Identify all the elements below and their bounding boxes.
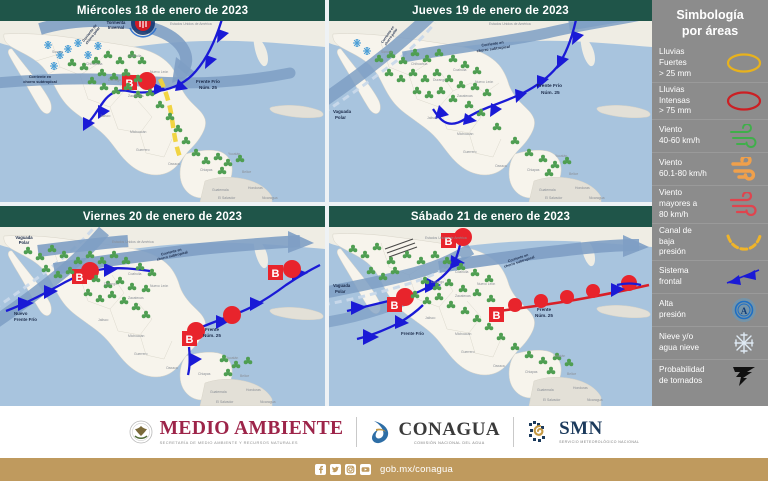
svg-text:Núm. 25: Núm. 25 [535,313,553,318]
svg-text:Jalisco: Jalisco [100,114,110,118]
svg-text:Coahuila: Coahuila [128,272,141,276]
svg-text:Guerrero: Guerrero [461,350,475,354]
svg-text:B: B [391,300,399,312]
svg-text:Yucatán: Yucatán [228,152,240,156]
medio-ambiente-title: MEDIO AMBIENTE [160,419,344,439]
legend-item-tornado-probability[interactable]: Probabilidadde tornados [652,359,768,392]
high-pressure-a-circle-icon: A [724,296,764,324]
svg-text:Zacatecas: Zacatecas [128,94,144,98]
svg-text:Estados Unidos de América: Estados Unidos de América [489,22,531,26]
logo-conagua[interactable]: CONAGUA COMISIÓN NACIONAL DEL AGUA [370,406,500,458]
conagua-water-icon [370,419,392,445]
svg-text:Chiapas: Chiapas [525,370,538,374]
svg-text:El Salvador: El Salvador [545,196,563,200]
svg-text:Michoacán: Michoacán [457,132,474,136]
svg-text:Honduras: Honduras [248,186,263,190]
svg-text:B: B [493,310,501,322]
facebook-icon[interactable] [315,464,326,475]
svg-text:Belice: Belice [567,372,576,376]
svg-text:Polar: Polar [19,240,30,245]
svg-text:Estados Unidos de América: Estados Unidos de América [425,236,467,240]
svg-text:El Salvador: El Salvador [543,398,561,402]
svg-text:Chihuahua: Chihuahua [411,62,428,66]
svg-text:El Salvador: El Salvador [218,196,236,200]
svg-text:Zacatecas: Zacatecas [455,294,471,298]
svg-text:Guerrero: Guerrero [134,352,148,356]
subtropical-jet-label-wed: Corriente en [29,75,52,79]
svg-text:Jalisco: Jalisco [427,116,437,120]
svg-text:Nicaragua: Nicaragua [589,196,605,200]
logo-medio-ambiente[interactable]: MEDIO AMBIENTE SECRETARÍA DE MEDIO AMBIE… [129,406,344,458]
wind-swirl-green-icon [724,122,764,150]
svg-text:Yucatán: Yucatán [226,356,238,360]
panel-thu[interactable]: Jueves 19 de enero de 2023 [329,0,652,202]
front-25-label-sat: Frente [537,307,551,312]
logo-smn[interactable]: SMN SERVICIO METEOROLÓGICO NACIONAL [527,406,639,458]
panel-fri[interactable]: Viernes 20 de enero de 2023 [0,206,325,406]
legend-title-line1: Simbología [656,8,764,24]
svg-text:Michoacán: Michoacán [128,334,145,338]
svg-text:Zacatecas: Zacatecas [128,296,144,300]
winter-storm-icon-wed [130,21,156,37]
front-triangles-blue-icon [724,263,764,291]
wind-gust-orange-icon [724,155,764,183]
svg-text:Honduras: Honduras [575,186,590,190]
svg-text:Invernal: Invernal [108,25,124,30]
smn-title: SMN [559,419,639,438]
svg-text:Michoacán: Michoacán [130,130,147,134]
medio-ambiente-subtitle: SECRETARÍA DE MEDIO AMBIENTE Y RECURSOS … [160,441,344,445]
legend-item-wind-40-60[interactable]: Viento40-60 km/h [652,119,768,152]
svg-text:Yucatán: Yucatán [553,354,565,358]
panel-sat-title: Sábado 21 de enero de 2023 [329,206,652,227]
legend-title: Simbología por áreas [652,0,768,41]
legend-label-low-pressure-trough: Canal debajapresión [659,226,724,258]
snowflake-icon [724,329,764,357]
svg-text:Guatemala: Guatemala [210,390,227,394]
front-25-label-fri: Frente [205,327,219,332]
svg-text:Durango: Durango [108,78,121,82]
panel-sat[interactable]: Sábado 21 de enero de 2023 [329,206,652,406]
svg-text:Belice: Belice [242,170,251,174]
footer-social-bar: gob.mx/conagua [0,458,768,481]
svg-text:Oaxaca: Oaxaca [168,162,180,166]
svg-text:Chiapas: Chiapas [527,168,540,172]
legend-label-wind-40-60: Viento40-60 km/h [659,125,724,147]
svg-text:Oaxaca: Oaxaca [495,164,507,168]
svg-text:Zacatecas: Zacatecas [457,94,473,98]
legend-item-snow-sleet[interactable]: Nieve y/oagua nieve [652,326,768,359]
legend-label-wind-gt-80: Vientomayores a80 km/h [659,188,724,220]
svg-text:Durango: Durango [431,280,444,284]
footer-url[interactable]: gob.mx/conagua [380,464,453,475]
ellipse-outline-red-icon [724,87,764,115]
twitter-icon[interactable] [330,464,341,475]
panel-sat-map[interactable]: B B B [329,227,652,406]
svg-text:Polar: Polar [335,115,346,120]
instagram-icon[interactable] [345,464,356,475]
svg-text:Honduras: Honduras [573,386,588,390]
weather-forecast-infographic: Miércoles 18 de enero de 2023 [0,0,768,481]
legend-item-heavy-rain[interactable]: LluviasFuertes> 25 mm [652,45,768,81]
svg-text:B: B [186,334,194,346]
smn-subtitle: SERVICIO METEOROLÓGICO NACIONAL [559,440,639,445]
svg-text:Núm. 25: Núm. 25 [541,90,560,96]
dashed-arc-yellow-icon [724,228,764,256]
legend-label-snow-sleet: Nieve y/oagua nieve [659,332,724,354]
svg-text:Sonora: Sonora [52,50,63,54]
legend-item-high-pressure[interactable]: Altapresión A [652,293,768,326]
smn-spiral-icon [527,419,553,445]
map-svg-thu: Vaguada Polar Corriente en chorro polar … [329,21,652,202]
panel-fri-map[interactable]: B B B [0,227,325,406]
conagua-title: CONAGUA [398,420,500,439]
svg-text:B: B [272,268,280,280]
cold-front-label-sat: Frente Frío [401,331,424,336]
svg-text:Nicaragua: Nicaragua [260,400,276,404]
panel-thu-title: Jueves 19 de enero de 2023 [329,0,652,21]
legend-label-high-pressure: Altapresión [659,299,724,321]
svg-text:Jalisco: Jalisco [98,318,108,322]
panel-wed-map[interactable]: B [0,21,325,202]
svg-text:Coahuila: Coahuila [128,54,141,58]
svg-text:Durango: Durango [104,282,117,286]
svg-text:Jalisco: Jalisco [425,316,435,320]
tornado-black-icon [724,362,764,390]
legend-label-wind-60-80: Viento60.1-80 km/h [659,158,724,180]
svg-text:Belice: Belice [569,172,578,176]
footer-logos: MEDIO AMBIENTE SECRETARÍA DE MEDIO AMBIE… [0,406,768,458]
svg-text:Nicaragua: Nicaragua [587,398,603,402]
svg-text:Belice: Belice [240,374,249,378]
svg-text:Nuevo León: Nuevo León [477,282,495,286]
svg-text:A: A [741,306,748,316]
svg-text:Guatemala: Guatemala [212,188,229,192]
legend-list: LluviasFuertes> 25 mm LluviasIntensas> 7… [652,41,768,392]
svg-text:Honduras: Honduras [246,388,261,392]
legend-label-heavy-rain: LluviasFuertes> 25 mm [659,47,724,79]
svg-text:chorro subtropical: chorro subtropical [23,80,57,84]
legend-item-wind-gt-80[interactable]: Vientomayores a80 km/h [652,185,768,222]
legend-item-intense-rain[interactable]: LluviasIntensas> 75 mm [652,82,768,119]
youtube-icon[interactable] [360,464,371,475]
legend-item-frontal-system[interactable]: Sistemafrontal [652,260,768,293]
svg-text:Estados Unidos de América: Estados Unidos de América [170,22,212,26]
svg-text:Polar: Polar [335,289,346,294]
polar-trough-label-sat: Vaguada [333,283,351,288]
svg-text:Coahuila: Coahuila [455,270,468,274]
map-svg-fri: B B B [0,227,325,406]
panel-fri-title: Viernes 20 de enero de 2023 [0,206,325,227]
svg-text:Coahuila: Coahuila [453,68,466,72]
panel-thu-map[interactable]: Vaguada Polar Corriente en chorro polar … [329,21,652,202]
polar-trough-label-thu: Vaguada [333,109,352,114]
svg-text:Frente Frío: Frente Frío [14,317,37,322]
footer-divider-1 [356,417,357,447]
svg-text:Núm. 25: Núm. 25 [199,85,217,90]
svg-text:Durango: Durango [433,78,446,82]
panel-wed[interactable]: Miércoles 18 de enero de 2023 [0,0,325,202]
svg-text:Nuevo León: Nuevo León [475,80,493,84]
svg-text:Núm. 25: Núm. 25 [203,333,221,338]
legend-title-line2: por áreas [656,24,764,40]
svg-text:Sonora: Sonora [381,50,392,54]
svg-text:Guerrero: Guerrero [463,150,477,154]
ellipse-outline-yellow-icon [724,49,764,77]
map-svg-sat: B B B [329,227,652,406]
conagua-subtitle: COMISIÓN NACIONAL DEL AGUA [398,441,500,445]
footer-divider-2 [513,417,514,447]
legend-label-intense-rain: LluviasIntensas> 75 mm [659,85,724,117]
cold-front-label-wed: Frente Frío [196,79,220,84]
legend-item-wind-60-80[interactable]: Viento60.1-80 km/h [652,152,768,185]
maps-area: Miércoles 18 de enero de 2023 [0,0,652,406]
cold-front-label-thu: Frente Frío [537,83,562,89]
svg-text:Oaxaca: Oaxaca [166,366,178,370]
svg-text:Guatemala: Guatemala [537,388,554,392]
wind-swirl-red-icon [724,190,764,218]
map-svg-wed: B [0,21,325,202]
svg-text:Guerrero: Guerrero [136,148,150,152]
panel-wed-title: Miércoles 18 de enero de 2023 [0,0,325,21]
svg-text:Chihuahua: Chihuahua [86,62,103,66]
legend-item-low-pressure-trough[interactable]: Canal debajapresión [652,223,768,260]
legend-label-tornado-probability: Probabilidadde tornados [659,365,724,387]
svg-text:Chiapas: Chiapas [198,372,211,376]
svg-text:Estados Unidos de América: Estados Unidos de América [112,240,154,244]
legend-sidebar: Simbología por áreas LluviasFuertes> 25 … [652,0,768,406]
mexico-eagle-seal-icon [129,420,153,444]
svg-text:Nuevo León: Nuevo León [150,284,168,288]
svg-text:Chiapas: Chiapas [200,168,213,172]
svg-text:Oaxaca: Oaxaca [493,364,505,368]
svg-text:Michoacán: Michoacán [455,332,472,336]
new-cold-front-label-fri: Nuevo [14,311,28,316]
svg-text:Guatemala: Guatemala [539,188,556,192]
svg-text:Yucatán: Yucatán [555,154,567,158]
legend-label-frontal-system: Sistemafrontal [659,266,724,288]
svg-text:Nicaragua: Nicaragua [262,196,278,200]
svg-text:B: B [76,272,84,284]
svg-text:El Salvador: El Salvador [216,400,234,404]
svg-text:Nuevo León: Nuevo León [150,70,168,74]
